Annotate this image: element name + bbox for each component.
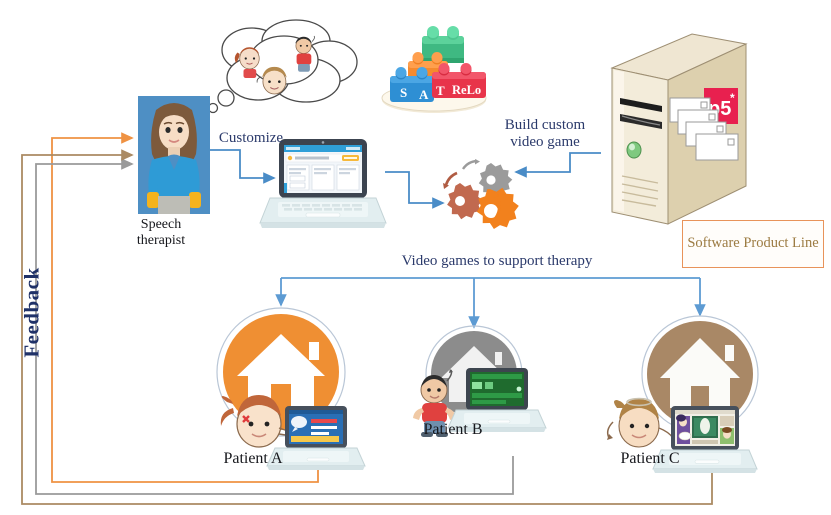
connector-server-to-gears [516,153,601,172]
svg-text:T: T [436,83,445,98]
connector-customize [210,150,274,178]
lego-blocks: S A T ReLo [378,18,498,118]
thought-bubble [196,14,366,118]
patient-a-group [213,304,353,474]
build-custom-video-game-label: Build custom video game [480,117,610,152]
lego-red: T ReLo [432,63,486,98]
svg-text:*: * [730,91,735,105]
svg-text:S: S [400,85,407,100]
patient-b-caption: Patient B [398,421,508,439]
patient-c-caption: Patient C [595,450,705,468]
svg-text:A: A [419,87,429,102]
build-gears [437,155,527,240]
patient-b-group [404,326,554,461]
server-tower: p5 * [600,26,760,231]
diagram-canvas: Feedback [0,0,831,515]
feedback-label: Feedback [20,243,45,383]
lego-green [422,26,464,63]
gear-red-icon [447,183,483,219]
configurator-laptop [268,139,388,239]
video-games-support-therapy-label: Video games to support therapy [382,253,612,270]
speech-therapist-caption: Speech therapist [106,217,216,249]
speech-therapist-avatar [138,96,210,214]
patient-a-caption: Patient A [198,450,308,468]
gear-orange-icon [477,188,519,229]
connector-laptop-to-gears [385,172,443,203]
svg-text:ReLo: ReLo [452,83,481,97]
software-product-line-label: Software Product Line [682,220,824,268]
customize-label: Customize [205,130,297,147]
